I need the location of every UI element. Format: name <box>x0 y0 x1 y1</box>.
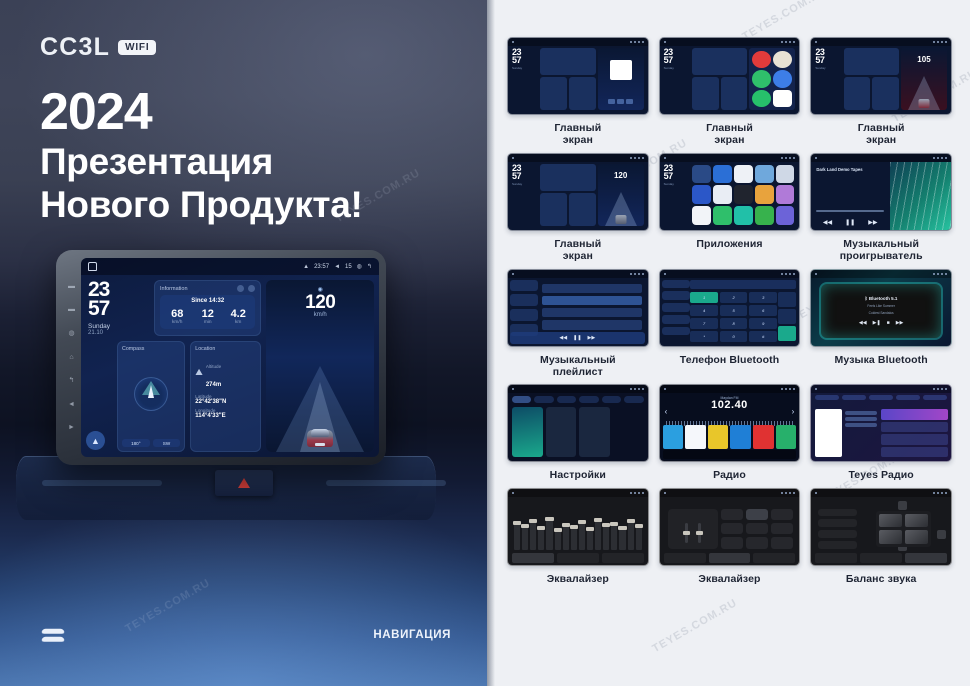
volume-icon: ◄ <box>334 264 340 270</box>
radio-toolbar[interactable] <box>663 450 797 459</box>
navigation-arrow-icon[interactable]: ▲ <box>86 431 105 450</box>
screenshot-thumbnail[interactable] <box>659 488 801 566</box>
gallery-caption: Радио <box>713 469 746 481</box>
logo-wifi-badge: WIFI <box>118 40 156 55</box>
media-controls[interactable] <box>598 96 644 104</box>
gallery-item[interactable]: ◀◀ ❚❚ ▶▶ Музыкальный плейлист <box>507 269 649 379</box>
compass-needle-icon <box>148 385 154 398</box>
pause-icon[interactable]: ❚❚ <box>845 219 855 226</box>
speaker-grid[interactable] <box>876 511 932 547</box>
screen-left-column: 23 57 Sunday 21.10 Information <box>86 280 261 452</box>
album-art <box>815 409 842 457</box>
screenshot-thumbnail[interactable] <box>507 384 649 462</box>
teyes-radio-tabs[interactable] <box>815 395 947 400</box>
balance-up-button[interactable] <box>898 501 907 510</box>
screenshot-thumbnail[interactable]: 23 57 Sunday <box>659 37 801 115</box>
gallery-item[interactable]: Эквалайзер <box>507 488 649 585</box>
phone-number-field[interactable] <box>690 280 796 289</box>
car-plate <box>315 443 325 446</box>
layers-icon-sheet-1 <box>41 628 66 633</box>
information-actions[interactable] <box>237 285 255 292</box>
phone-actions[interactable] <box>778 292 796 342</box>
bluetooth-icon: ᛒ <box>865 296 868 301</box>
thumb-status-bar <box>660 270 800 278</box>
bluetooth-name: Bluetooth <box>869 296 890 301</box>
driving-widget[interactable]: ◉ 120 km/h <box>266 280 374 452</box>
dialpad-key[interactable]: 4 <box>690 305 718 316</box>
play-pause-icon[interactable]: ▶❚ <box>873 320 881 326</box>
thumb-home-layout: 23 57 Sunday <box>662 46 798 112</box>
thumb-car <box>918 99 929 108</box>
location-title: Location <box>195 346 256 352</box>
gallery-item[interactable]: Баланс звука <box>810 488 952 585</box>
gallery-item[interactable]: Настройки <box>507 384 649 481</box>
gallery-caption: Музыка Bluetooth <box>835 354 928 366</box>
thumb-car <box>615 215 626 224</box>
location-widget[interactable]: Location ⛰ Altitude 274m <box>190 341 261 452</box>
track-meta <box>845 409 876 457</box>
compass-direction: SW <box>153 439 181 447</box>
player-track-title: Dark Land Demo Tapes <box>816 167 884 172</box>
equalizer-sliders[interactable] <box>668 509 718 549</box>
gallery-item[interactable]: Teyes Радио <box>810 384 952 481</box>
car-3d-model <box>307 423 333 447</box>
dialpad-key[interactable]: 5 <box>720 305 748 316</box>
thumb-app-grid[interactable] <box>690 163 796 227</box>
next-icon[interactable]: ▶▶ <box>896 320 904 326</box>
gallery-caption: Эквалайзер <box>698 573 760 585</box>
location-altitude: Altitude 274m <box>206 355 221 391</box>
playlist-rows[interactable] <box>542 284 643 330</box>
thumb-drive-panel: 120 <box>598 164 644 226</box>
dialpad-key[interactable]: * <box>690 331 718 342</box>
settings-tabs[interactable] <box>512 396 644 403</box>
location-longitude: Longitude 114°4'33"E <box>195 408 256 419</box>
prev-station-icon[interactable]: ‹ <box>665 407 668 416</box>
gallery-item[interactable]: Эквалайзер <box>659 488 801 585</box>
layers-icon <box>42 625 64 642</box>
stop-icon[interactable]: ■ <box>887 320 890 326</box>
presentation-slide: CC3L WIFI 2024 Презентация Нового Продук… <box>0 0 970 686</box>
speaker-front-right <box>905 514 928 528</box>
location-altitude-row: ⛰ Altitude 274m <box>195 355 256 391</box>
stat-time-value: 12 <box>192 308 222 320</box>
status-clock: 23:57 <box>314 264 329 270</box>
button-mute-icon[interactable]: ▬ <box>68 306 76 314</box>
dialpad-key[interactable]: # <box>749 331 777 342</box>
compass-heading: 180° <box>122 439 150 447</box>
thumb-speed-value: 105 <box>901 55 947 64</box>
thumb-clock: 23 57 Sunday <box>512 164 538 226</box>
gallery-caption: Главный экран <box>554 122 601 147</box>
gallery-caption: Музыкальный плейлист <box>540 354 616 379</box>
teyes-radio-now-playing <box>815 409 876 457</box>
thumb-home-layout: 23 57 Sunday <box>510 46 646 112</box>
thumb-clock: 23 57 Sunday <box>664 164 669 226</box>
button-back-icon[interactable]: ↰ <box>68 377 76 385</box>
gallery-item[interactable]: 23 57 Sunday 105 Главный экран <box>810 37 952 147</box>
thumb-home-layout: 23 57 Sunday 105 <box>813 46 949 112</box>
thumb-clock-weekday: Sunday <box>664 182 669 186</box>
dialpad-key[interactable]: 8 <box>720 318 748 329</box>
dialpad-key[interactable]: 3 <box>749 292 777 303</box>
album-art <box>610 60 632 80</box>
clock-weekday: Sunday <box>88 323 148 330</box>
hero-panel: CC3L WIFI 2024 Презентация Нового Продук… <box>0 0 487 686</box>
latitude-value: 22°42'38"N <box>195 399 256 405</box>
thumb-clock-weekday: Sunday <box>815 66 841 70</box>
clock-date: 21.10 <box>88 330 148 336</box>
radio-presets[interactable] <box>663 425 797 449</box>
gallery-item[interactable]: ᛒ Bluetooth 5.1 Feels Like Summer Coldes… <box>810 269 952 379</box>
thumb-clock-weekday: Sunday <box>664 66 690 70</box>
previous-icon[interactable]: ◀◀ <box>859 320 867 326</box>
call-icon[interactable] <box>778 326 796 341</box>
reset-icon[interactable] <box>237 285 244 292</box>
thumb-clock-minutes: 57 <box>512 172 538 180</box>
information-inner: Since 14:32 68 km/h 12 <box>160 295 255 329</box>
balance-right-button[interactable] <box>937 530 946 539</box>
favorite-icon[interactable] <box>778 292 796 307</box>
button-power-icon[interactable]: ▬ <box>68 283 76 291</box>
player-controls[interactable]: ◀◀ ❚❚ ▶▶ <box>816 219 884 226</box>
screenshot-thumbnail[interactable]: Dark Land Demo Tapes ◀◀ ❚❚ ▶▶ <box>810 153 952 231</box>
thumb-status-bar <box>660 489 800 497</box>
bt-track-artist: Coldest Sandalus <box>869 311 894 315</box>
thumb-clock-minutes: 57 <box>815 56 841 64</box>
hazard-triangle-icon <box>238 478 250 488</box>
thumb-widgets <box>540 164 595 226</box>
back-icon[interactable]: ↰ <box>367 263 372 270</box>
thumb-status-bar <box>811 385 951 393</box>
teyes-radio-list[interactable] <box>881 409 948 457</box>
head-unit-screen[interactable]: ▲ 23:57 ◄ 15 ◍ ↰ 23 57 <box>81 258 379 457</box>
stat-distance-unit: km <box>223 320 253 325</box>
altitude-label: Altitude <box>206 364 221 369</box>
wifi-icon: ▲ <box>303 264 309 270</box>
stat-distance: 4.2 km <box>223 308 253 325</box>
gallery-grid: 23 57 Sunday Главный экран <box>507 37 952 585</box>
thumb-speed-value: 120 <box>598 171 644 180</box>
dialpad[interactable]: 1 2 3 4 5 6 7 8 9 * 0 # <box>690 292 777 342</box>
screenshot-thumbnail[interactable] <box>810 384 952 462</box>
thumb-status-bar <box>811 154 951 162</box>
equalizer-tabs[interactable] <box>664 553 796 563</box>
thumb-drive-panel: 105 <box>901 48 947 110</box>
gallery-caption: Баланс звука <box>846 573 917 585</box>
wifi-card[interactable] <box>512 407 543 457</box>
screenshot-thumbnail[interactable] <box>810 488 952 566</box>
watermark: TEYES.COM.RU <box>123 577 212 635</box>
screenshot-thumbnail[interactable]: 23 57 Sunday <box>507 37 649 115</box>
status-volume: 15 <box>345 264 352 270</box>
thumb-clock: 23 57 Sunday <box>815 48 841 110</box>
expand-icon[interactable] <box>248 285 255 292</box>
navigation-shortcut-button[interactable]: ▲ <box>86 341 112 452</box>
settings-cards[interactable] <box>512 407 644 457</box>
speed-unit: km/h <box>314 312 327 318</box>
thumb-status-bar <box>660 385 800 393</box>
stat-distance-value: 4.2 <box>223 308 253 320</box>
phone-sidebar[interactable] <box>662 280 690 336</box>
gallery-item[interactable]: 23 57 Sunday Главный экран <box>507 37 649 147</box>
device-side-buttons[interactable]: ▬ ▬ ◍ ⌂ ↰ ◄ ► <box>62 258 81 457</box>
compass-widget[interactable]: Compass 180° SW <box>117 341 185 452</box>
pause-icon[interactable]: ❚❚ <box>573 335 581 341</box>
information-since: Since 14:32 <box>162 298 253 304</box>
head-unit-device: ▬ ▬ ◍ ⌂ ↰ ◄ ► ▲ 23:57 ◄ 1 <box>56 250 386 465</box>
air-vent-left <box>42 480 162 486</box>
previous-icon[interactable]: ◀◀ <box>823 219 832 226</box>
headline-line-1: Презентация <box>40 140 363 184</box>
compass-ring <box>134 377 168 411</box>
thumb-widgets <box>844 48 899 110</box>
thumb-home-layout: 23 57 Sunday 120 <box>510 162 646 228</box>
dialpad-key[interactable]: 2 <box>720 292 748 303</box>
product-logo: CC3L WIFI <box>40 33 156 62</box>
thumb-status-bar <box>508 385 648 393</box>
logo-word: CC3L <box>40 33 110 62</box>
screenshot-gallery: TEYES.COM.RU TEYES.COM.RU TEYES.COM.RU T… <box>487 0 970 686</box>
air-vent-right <box>326 480 446 486</box>
equalizer-presets[interactable] <box>721 509 794 549</box>
layers-icon-sheet-2 <box>41 637 66 642</box>
speed-value: 120 <box>305 293 335 312</box>
gallery-caption: Эквалайзер <box>547 573 609 585</box>
gallery-caption: Настройки <box>550 469 606 481</box>
button-home-icon[interactable]: ⌂ <box>68 354 76 362</box>
stat-speed-value: 68 <box>162 308 192 320</box>
equalizer-tabs[interactable] <box>815 553 947 563</box>
compass-readout: 180° SW <box>122 439 180 447</box>
car-glass <box>311 429 329 437</box>
gallery-item[interactable]: 23 57 Sunday Приложения <box>659 153 801 263</box>
thumb-status-bar <box>660 38 800 46</box>
gallery-item[interactable]: 23 57 Sunday Главный экран <box>659 37 801 147</box>
home-icon[interactable] <box>88 262 97 271</box>
thumb-media-panel <box>598 48 644 110</box>
next-icon[interactable]: ▶▶ <box>588 335 596 341</box>
gallery-caption: Главный экран <box>858 122 905 147</box>
thumb-clock-minutes: 57 <box>664 172 669 180</box>
next-station-icon[interactable]: › <box>792 407 795 416</box>
thumb-status-bar <box>811 270 951 278</box>
gallery-item[interactable]: Dark Land Demo Tapes ◀◀ ❚❚ ▶▶ Музыкальны… <box>810 153 952 263</box>
bluetooth-music-card: ᛒ Bluetooth 5.1 Feels Like Summer Coldes… <box>821 284 941 338</box>
footer-label: НАВИГАЦИЯ <box>373 629 451 641</box>
screenshot-thumbnail[interactable] <box>507 488 649 566</box>
dialpad-key[interactable]: 0 <box>720 331 748 342</box>
playlist-mini-player[interactable]: ◀◀ ❚❚ ▶▶ <box>510 332 645 344</box>
thumb-status-bar <box>811 38 951 46</box>
compass-dial <box>122 352 180 437</box>
thumb-status-bar <box>508 38 648 46</box>
thumb-clock: 23 57 Sunday <box>512 48 538 110</box>
dialpad-key[interactable]: 6 <box>749 305 777 316</box>
screenshot-thumbnail[interactable]: 1 2 3 4 5 6 7 8 9 * 0 # <box>659 269 801 347</box>
gear-icon[interactable]: ◍ <box>357 263 362 270</box>
hazard-light-button[interactable] <box>215 470 273 496</box>
stat-speed-unit: km/h <box>162 320 192 325</box>
speaker-front-left <box>879 514 902 528</box>
watermark: TEYES.COM.RU <box>650 597 739 655</box>
gallery-caption: Главный экран <box>554 238 601 263</box>
thumb-clock-minutes: 57 <box>664 56 690 64</box>
screenshot-thumbnail[interactable]: 23 57 Sunday <box>659 153 801 231</box>
speaker-rear-left <box>879 530 902 544</box>
thumb-status-bar <box>508 154 648 162</box>
information-title-row: Information <box>160 285 255 292</box>
previous-icon[interactable]: ◀◀ <box>559 335 567 341</box>
car-dashboard-illustration: ▬ ▬ ◍ ⌂ ↰ ◄ ► ▲ 23:57 ◄ 1 <box>0 232 487 532</box>
music-wave-visual <box>890 162 951 230</box>
stat-speed: 68 km/h <box>162 308 192 325</box>
button-settings-icon[interactable]: ◍ <box>68 330 76 338</box>
information-widget[interactable]: Information Since 14:32 <box>154 280 261 336</box>
hotspot-card[interactable] <box>546 407 577 457</box>
balance-presets[interactable] <box>818 509 857 549</box>
location-latitude: Latitude 22°42'38"N <box>195 394 256 405</box>
clock-widget: 23 57 Sunday 21.10 <box>86 280 148 336</box>
gallery-item[interactable]: 23 57 Sunday 120 Главный экран <box>507 153 649 263</box>
headline-line-2: Нового Продукта! <box>40 183 363 227</box>
thumb-clock-column: 23 57 Sunday <box>662 162 693 228</box>
gallery-caption: Музыкальный проигрыватель <box>840 238 923 263</box>
thumb-app-shortcuts[interactable] <box>749 48 795 110</box>
gallery-item[interactable]: Maydan FM 102.40 ‹ › Радио <box>659 384 801 481</box>
gallery-caption: Teyes Радио <box>849 469 914 481</box>
gallery-item[interactable]: 1 2 3 4 5 6 7 8 9 * 0 # <box>659 269 801 379</box>
information-title: Information <box>160 286 188 292</box>
screenshot-thumbnail[interactable]: Maydan FM 102.40 ‹ › <box>659 384 801 462</box>
thumb-status-bar <box>811 489 951 497</box>
gallery-caption: Главный экран <box>706 122 753 147</box>
thumb-clock-minutes: 57 <box>512 56 538 64</box>
equalizer-tabs[interactable] <box>512 553 644 563</box>
longitude-value: 114°4'33"E <box>195 413 256 419</box>
button-volume-down-icon[interactable]: ◄ <box>68 401 76 409</box>
thumb-clock-weekday: Sunday <box>512 66 538 70</box>
thumb-clock-weekday: Sunday <box>512 182 538 186</box>
thumb-widgets <box>692 48 747 110</box>
screenshot-thumbnail[interactable]: ᛒ Bluetooth 5.1 Feels Like Summer Coldes… <box>810 269 952 347</box>
speaker-rear-right <box>905 530 928 544</box>
bt-track-title: Feels Like Summer <box>867 304 894 308</box>
screen-body: 23 57 Sunday 21.10 Information <box>81 275 379 457</box>
thumb-clock: 23 57 Sunday <box>664 48 690 110</box>
page-title: 2024 Презентация Нового Продукта! <box>40 86 363 227</box>
dialpad-key[interactable]: 7 <box>690 318 718 329</box>
screenshot-thumbnail[interactable]: 23 57 Sunday 120 <box>507 153 649 231</box>
next-icon[interactable]: ▶▶ <box>868 219 877 226</box>
stat-time: 12 min <box>192 308 222 325</box>
headline-year: 2024 <box>40 86 363 140</box>
status-bar: ▲ 23:57 ◄ 15 ◍ ↰ <box>81 258 379 275</box>
information-stats: 68 km/h 12 min <box>162 308 253 325</box>
screenshot-thumbnail[interactable]: 23 57 Sunday 105 <box>810 37 952 115</box>
gallery-caption: Приложения <box>696 238 762 250</box>
bt-controls[interactable]: ◀◀ ▶❚ ■ ▶▶ <box>859 320 903 326</box>
screenshot-thumbnail[interactable]: ◀◀ ❚❚ ▶▶ <box>507 269 649 347</box>
contacts-icon[interactable] <box>778 309 796 324</box>
clock-minutes: 57 <box>88 299 148 318</box>
thumb-status-bar <box>508 270 648 278</box>
thumb-status-bar <box>508 489 648 497</box>
playlist-sidebar[interactable] <box>510 280 538 336</box>
radio-frequency: 102.40 <box>660 399 800 411</box>
dialpad-key[interactable]: 9 <box>749 318 777 329</box>
compass-location-row: ▲ Compass <box>86 341 261 452</box>
altitude-value: 274m <box>206 382 221 388</box>
mountain-icon: ⛰ <box>195 367 203 378</box>
dialpad-key[interactable]: 1 <box>690 292 718 303</box>
equalizer-faders[interactable] <box>514 509 642 550</box>
gallery-caption: Телефон Bluetooth <box>680 354 780 366</box>
button-volume-up-icon[interactable]: ► <box>68 424 76 432</box>
clock-and-info-row: 23 57 Sunday 21.10 Information <box>86 280 261 336</box>
thumb-widgets <box>540 48 595 110</box>
player-progress-bar[interactable] <box>816 210 884 212</box>
more-card[interactable] <box>579 407 610 457</box>
bluetooth-version: 5.1 <box>891 296 897 301</box>
stat-time-unit: min <box>192 320 222 325</box>
bluetooth-title: ᛒ Bluetooth 5.1 <box>865 296 898 301</box>
thumb-status-bar <box>660 154 800 162</box>
